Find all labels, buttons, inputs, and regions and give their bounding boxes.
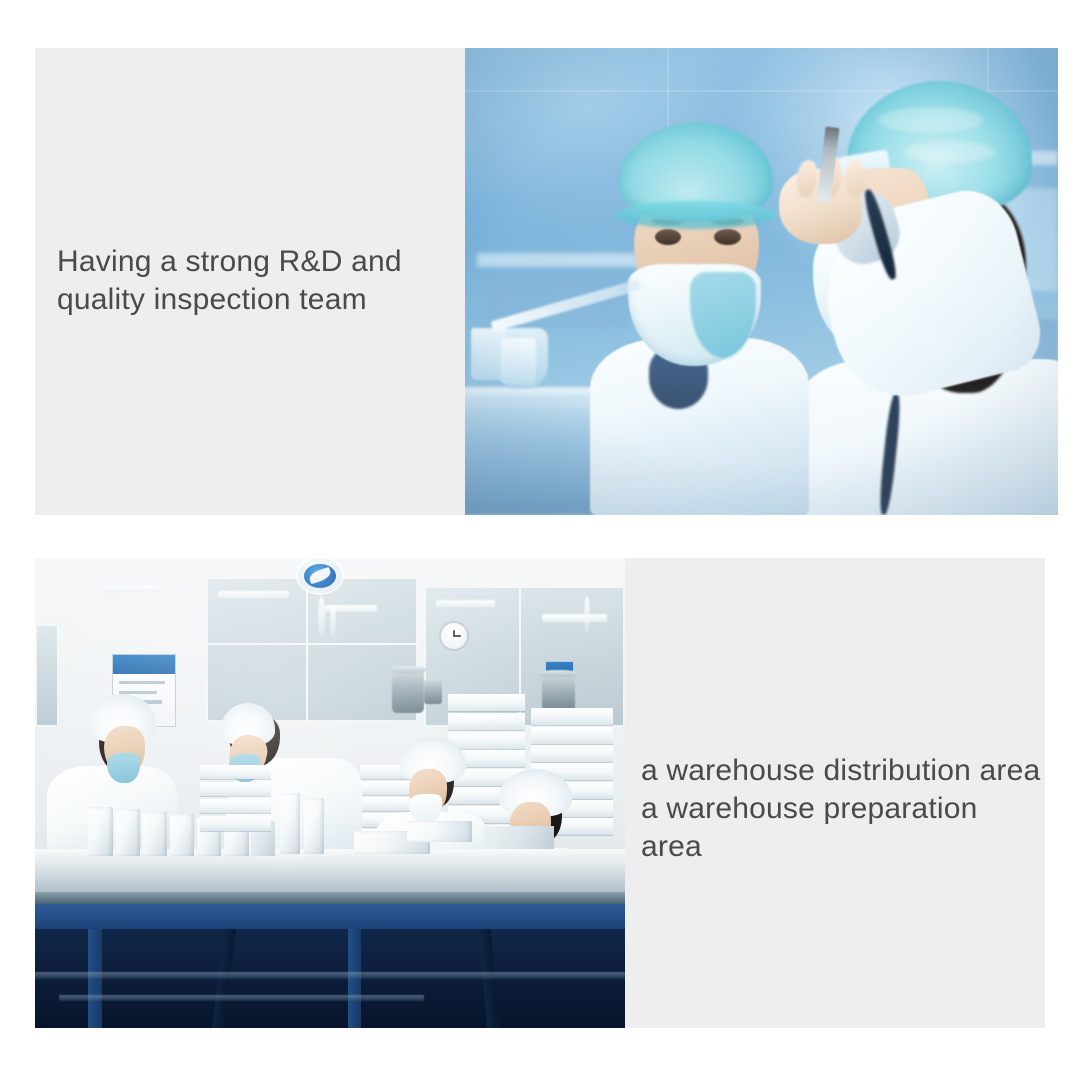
lab-quality-inspection-photo [465, 48, 1058, 515]
lab-scene [465, 48, 1058, 515]
poster-canvas: Having a strong R&D and quality inspecti… [0, 0, 1080, 1080]
rd-quality-caption: Having a strong R&D and quality inspecti… [57, 243, 447, 319]
warehouse-color-grade [35, 558, 625, 1028]
lab-vignette [465, 48, 1058, 515]
warehouse-scene [35, 558, 625, 1028]
warehouse-packing-photo [35, 558, 625, 1028]
warehouse-caption: a warehouse distribution area a warehous… [641, 752, 1041, 866]
